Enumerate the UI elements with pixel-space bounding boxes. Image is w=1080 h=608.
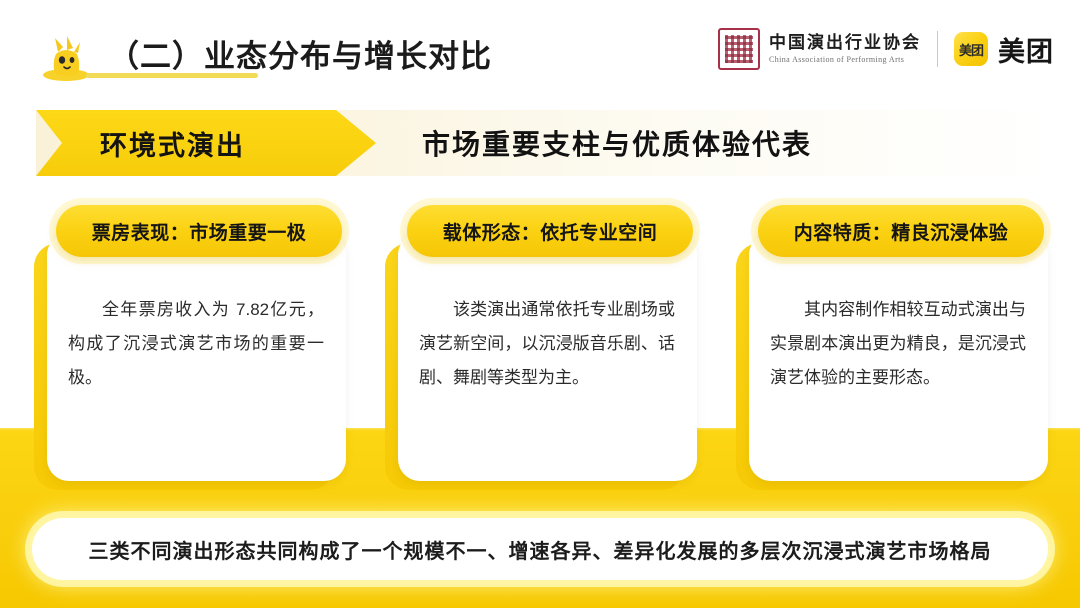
meituan-wordmark: 美团 <box>998 30 1054 69</box>
slide-canvas: （二）业态分布与增长对比 中国演出行业协会 China Association … <box>0 0 1080 608</box>
card-header-pill: 载体形态：依托专业空间 <box>407 205 693 257</box>
brand-lockup: 中国演出行业协会 China Association of Performing… <box>718 26 1054 72</box>
summary-banner: 三类不同演出形态共同构成了一个规模不一、增速各异、差异化发展的多层次沉浸式演艺市… <box>32 518 1048 580</box>
card-header-pill: 票房表现：市场重要一极 <box>56 205 342 257</box>
info-card: 票房表现：市场重要一极 全年票房收入为 7.82亿元，构成了沉浸式演艺市场的重要… <box>34 205 346 490</box>
meituan-logo: 美团 美团 <box>954 30 1054 69</box>
section-banner-heading: 市场重要支柱与优质体验代表 <box>422 110 812 176</box>
summary-text: 三类不同演出形态共同构成了一个规模不一、增速各异、差异化发展的多层次沉浸式演艺市… <box>89 535 992 564</box>
card-paragraph: 全年票房收入为 7.82亿元，构成了沉浸式演艺市场的重要一极。 <box>68 293 324 395</box>
section-banner-tag: 环境式演出 <box>36 110 376 176</box>
card-row: 票房表现：市场重要一极 全年票房收入为 7.82亿元，构成了沉浸式演艺市场的重要… <box>34 205 1048 495</box>
card-header-label: 内容特质：精良沉浸体验 <box>794 218 1009 245</box>
info-card: 载体形态：依托专业空间 该类演出通常依托专业剧场或演艺新空间，以沉浸版音乐剧、话… <box>385 205 697 490</box>
title-underline <box>86 73 258 78</box>
section-banner: 环境式演出 市场重要支柱与优质体验代表 <box>36 110 1048 176</box>
meituan-kangaroo-mascot-icon <box>40 34 92 82</box>
slide-header: （二）业态分布与增长对比 中国演出行业协会 China Association … <box>0 0 1080 95</box>
section-banner-tag-label: 环境式演出 <box>100 124 245 163</box>
association-name-en: China Association of Performing Arts <box>769 56 921 64</box>
info-card: 内容特质：精良沉浸体验 其内容制作相较互动式演出与实景剧本演出更为精良，是沉浸式… <box>736 205 1048 490</box>
meituan-badge-icon: 美团 <box>954 32 988 66</box>
red-seal-stamp-icon <box>718 28 760 70</box>
card-header-label: 载体形态：依托专业空间 <box>443 218 658 245</box>
card-paragraph: 其内容制作相较互动式演出与实景剧本演出更为精良，是沉浸式演艺体验的主要形态。 <box>770 293 1026 395</box>
card-header-pill: 内容特质：精良沉浸体验 <box>758 205 1044 257</box>
page-title: （二）业态分布与增长对比 <box>108 31 492 76</box>
association-name-cn: 中国演出行业协会 <box>769 34 921 51</box>
cappa-logo: 中国演出行业协会 China Association of Performing… <box>718 28 921 70</box>
card-header-label: 票房表现：市场重要一极 <box>92 218 307 245</box>
card-paragraph: 该类演出通常依托专业剧场或演艺新空间，以沉浸版音乐剧、话剧、舞剧等类型为主。 <box>419 293 675 395</box>
brand-divider <box>937 31 938 67</box>
